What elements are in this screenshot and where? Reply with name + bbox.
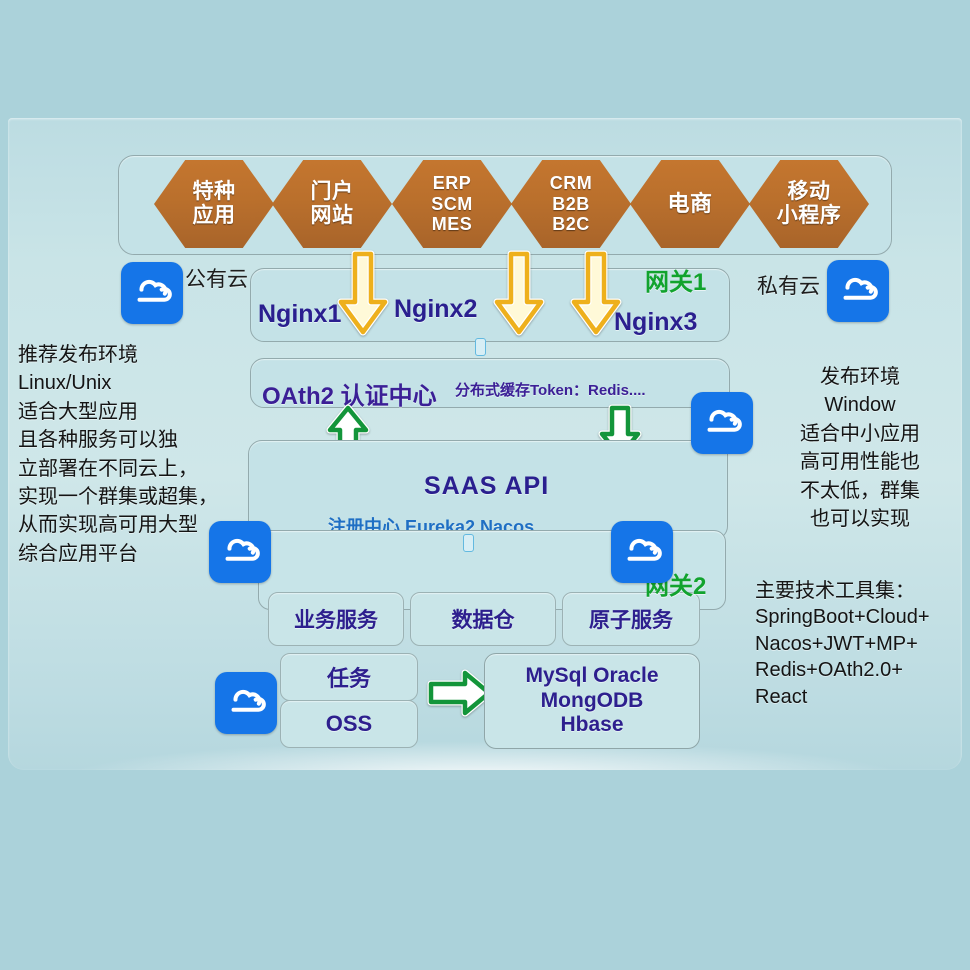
task-box[interactable]: 任务 (280, 653, 418, 701)
hexagon-shape: CRM B2B B2C (511, 160, 631, 248)
right-note-top-text: 发布环境 Window 适合中小应用 高可用性能也 不太低，群集 也可以实现 (760, 363, 960, 533)
cloud-icon-storage[interactable] (215, 672, 277, 734)
cloud-icon (129, 270, 175, 316)
oauth-subtitle: 分布式缓存Token：Redis.... (455, 379, 646, 400)
cloud-icon-public[interactable] (121, 262, 183, 324)
cloud-icon-auth[interactable] (691, 392, 753, 454)
down-arrow-icon (337, 250, 389, 338)
hexagon-shape: 门户 网站 (272, 160, 392, 248)
app-hexagon-5[interactable]: 移动 小程序 (749, 160, 869, 248)
nginx3-label: Nginx3 (614, 308, 697, 337)
cloud-icon (699, 400, 745, 446)
app-label: 移动 小程序 (777, 180, 842, 227)
diagram-canvas: 特种 应用 门户 网站 ERP SCM MES CRM B2B B2C 电商 移… (0, 0, 970, 970)
arrow-down-yellow-3 (570, 250, 622, 343)
app-hexagon-4[interactable]: 电商 (630, 160, 750, 248)
down-arrow-icon (570, 250, 622, 338)
left-note-text: 推荐发布环境 Linux/Unix 适合大型应用 且各种服务可以独 立部署在不同… (18, 341, 233, 568)
app-label: ERP SCM MES (431, 173, 473, 236)
oss-box[interactable]: OSS (280, 700, 418, 748)
right-note-bottom-text: 主要技术工具集： SpringBoot+Cloud+ Nacos+JWT+MP+… (755, 578, 970, 710)
database-box[interactable]: MySql Oracle MongODB Hbase (484, 653, 700, 749)
hexagon-shape: 移动 小程序 (749, 160, 869, 248)
hexagon-shape: 特种 应用 (154, 160, 274, 248)
cloud-icon (217, 529, 263, 575)
app-label: 特种 应用 (193, 180, 236, 227)
app-hexagon-1[interactable]: 门户 网站 (272, 160, 392, 248)
cloud-icon-private[interactable] (827, 260, 889, 322)
app-label: 门户 网站 (311, 180, 354, 227)
saas-title: SAAS API (424, 472, 549, 501)
cloud-icon-gateway2[interactable] (611, 521, 673, 583)
private-cloud-label: 私有云 (757, 270, 820, 300)
service-label: 原子服务 (589, 604, 673, 634)
cloud-icon-saas-left[interactable] (209, 521, 271, 583)
app-label: 电商 (667, 193, 712, 215)
task-label: 任务 (327, 661, 371, 693)
arrow-down-yellow-1 (337, 250, 389, 343)
app-hexagon-3[interactable]: CRM B2B B2C (511, 160, 631, 248)
connector-tick-1 (475, 338, 486, 356)
public-cloud-label: 公有云 (185, 263, 248, 293)
nginx2-label: Nginx2 (394, 295, 477, 324)
oss-label: OSS (326, 711, 372, 737)
service-box-business[interactable]: 业务服务 (268, 592, 404, 646)
app-label: CRM B2B B2C (550, 173, 593, 236)
app-hexagon-2[interactable]: ERP SCM MES (392, 160, 512, 248)
connector-tick-2 (463, 534, 474, 552)
app-hexagon-0[interactable]: 特种 应用 (154, 160, 274, 248)
cloud-icon (619, 529, 665, 575)
service-label: 数据仓 (452, 604, 515, 634)
cloud-icon (835, 268, 881, 314)
arrow-down-yellow-2 (493, 250, 545, 343)
service-label: 业务服务 (294, 604, 378, 634)
hexagon-shape: 电商 (630, 160, 750, 248)
service-box-datawarehouse[interactable]: 数据仓 (410, 592, 556, 646)
database-label: MySql Oracle MongODB Hbase (525, 664, 658, 738)
gateway1-label: 网关1 (645, 262, 706, 297)
hexagon-shape: ERP SCM MES (392, 160, 512, 248)
down-arrow-icon (493, 250, 545, 338)
cloud-icon (223, 680, 269, 726)
nginx1-label: Nginx1 (258, 300, 341, 329)
